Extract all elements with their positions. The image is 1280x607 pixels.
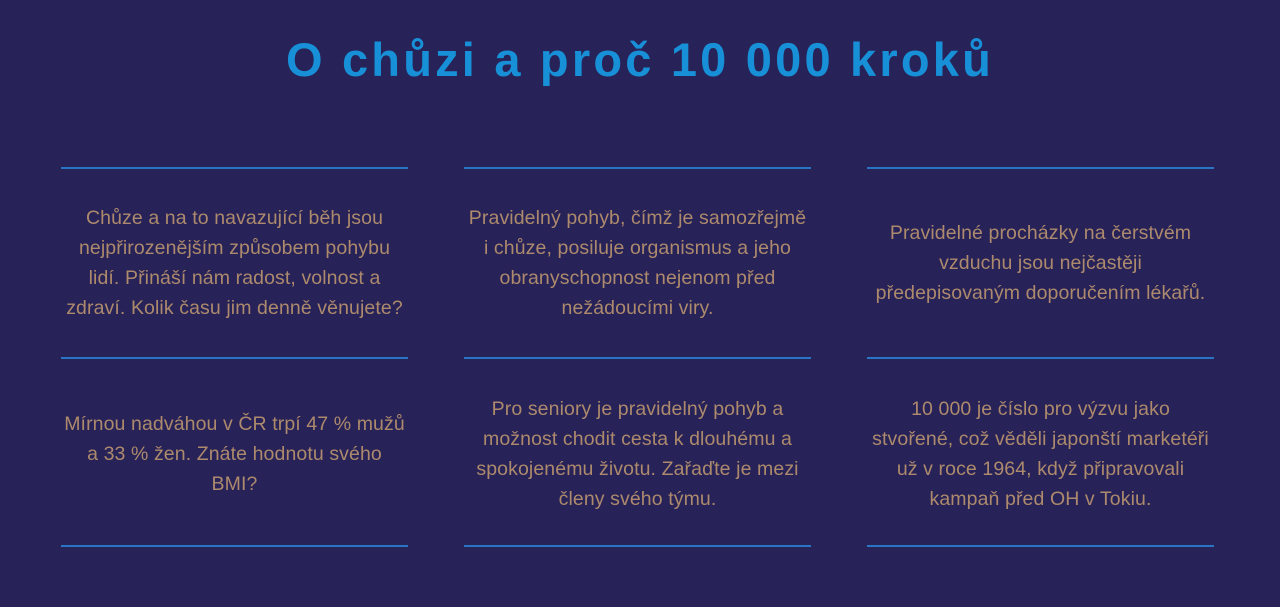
info-cell-5-text: Pro seniory je pravidelný pohyb a možnos… bbox=[466, 394, 809, 514]
info-cell-4-text: Mírnou nadváhou v ČR trpí 47 % mužů a 33… bbox=[63, 409, 406, 499]
info-cell-2: Pravidelný pohyb, čímž je samozřejmě i c… bbox=[464, 167, 811, 357]
page-title: O chůzi a proč 10 000 kroků bbox=[0, 28, 1280, 92]
title-container: O chůzi a proč 10 000 kroků bbox=[0, 28, 1280, 92]
info-cell-3: Pravidelné procházky na čerstvém vzduchu… bbox=[867, 167, 1214, 357]
info-cell-1-text: Chůze a na to navazující běh jsou nejpři… bbox=[63, 203, 406, 323]
info-cell-1: Chůze a na to navazující běh jsou nejpři… bbox=[61, 167, 408, 357]
info-cell-4: Mírnou nadváhou v ČR trpí 47 % mužů a 33… bbox=[61, 357, 408, 546]
info-cell-5: Pro seniory je pravidelný pohyb a možnos… bbox=[464, 357, 811, 546]
info-cell-3-text: Pravidelné procházky na čerstvém vzduchu… bbox=[869, 218, 1212, 308]
info-cell-6: 10 000 je číslo pro výzvu jako stvořené,… bbox=[867, 357, 1214, 546]
info-cell-6-text: 10 000 je číslo pro výzvu jako stvořené,… bbox=[869, 394, 1212, 514]
info-cell-2-text: Pravidelný pohyb, čímž je samozřejmě i c… bbox=[466, 203, 809, 323]
content-grid: Chůze a na to navazující běh jsou nejpři… bbox=[61, 167, 1213, 546]
slide-root: O chůzi a proč 10 000 kroků Chůze a na t… bbox=[0, 0, 1280, 607]
